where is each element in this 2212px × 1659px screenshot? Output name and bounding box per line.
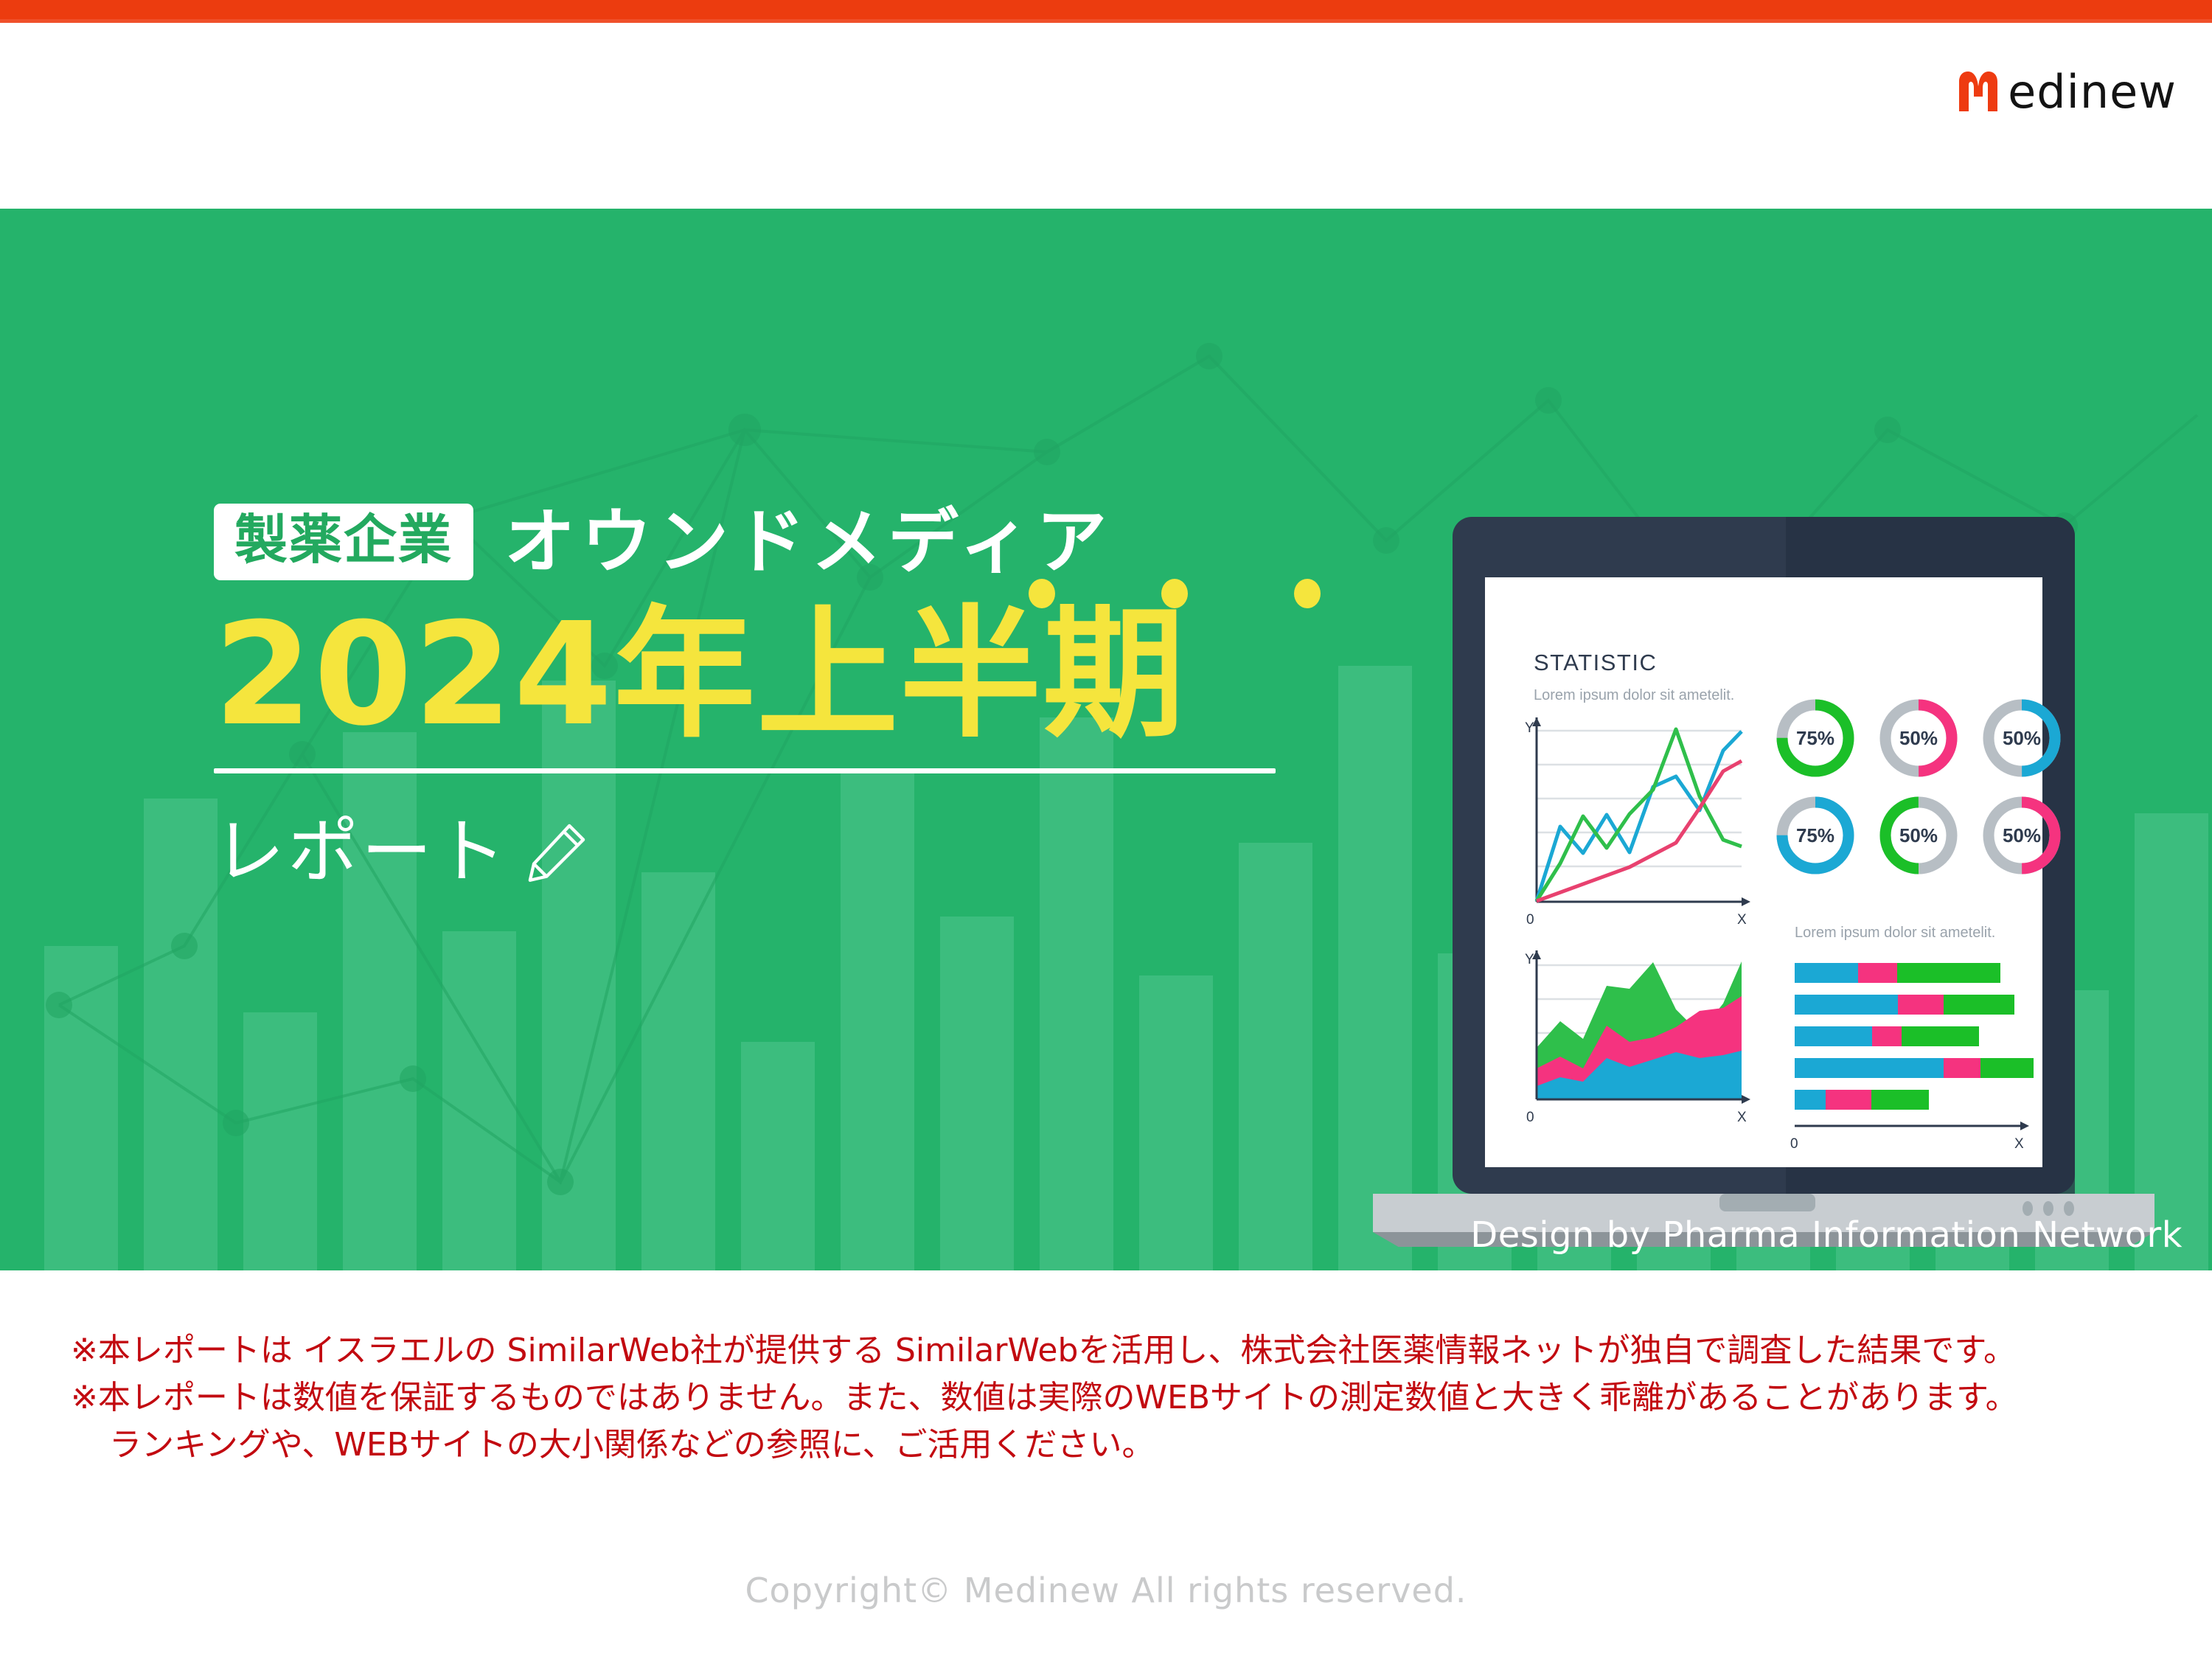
- disclaimer-line-3: ランキングや、WEBサイトの大小関係などの参照に、ご活用ください。: [71, 1422, 2150, 1469]
- donut-value: 50%: [2003, 727, 2041, 749]
- donut-value: 75%: [1796, 727, 1834, 749]
- donut-value: 75%: [1796, 824, 1834, 846]
- hero-year-row: 2024年上半期: [214, 601, 1394, 750]
- stacked-bar-row: [1795, 1026, 1979, 1046]
- line-chart-y-label: Y: [1525, 720, 1534, 736]
- hero-divider: [214, 768, 1276, 773]
- medinew-m-icon: [1953, 69, 2003, 116]
- disclaimer-block: ※本レポートは イスラエルの SimilarWeb社が提供する SimilarW…: [71, 1327, 2150, 1468]
- bars-origin-label: 0: [1790, 1136, 1798, 1152]
- stacked-bar-row: [1795, 963, 2000, 983]
- laptop-illustration: STATISTIC Lorem ipsum dolor sit ametelit…: [1373, 517, 2154, 1247]
- top-accent-bar: [0, 0, 2212, 19]
- hero-headline: オウンドメディア: [504, 507, 1113, 577]
- hero-title-block: 製薬企業 オウンドメディア 2024年上半期 レポート: [214, 504, 1394, 889]
- page-header: edinew: [0, 23, 2212, 209]
- emphasis-dots: [1029, 579, 1321, 608]
- emphasis-dot: [1294, 579, 1321, 608]
- hero-big-year: 2024年上半期: [214, 601, 1394, 750]
- emphasis-dot: [1029, 579, 1055, 608]
- disclaimer-line-1: ※本レポートは イスラエルの SimilarWeb社が提供する SimilarW…: [71, 1327, 2150, 1374]
- hero-title-row-primary: 製薬企業 オウンドメディア: [214, 504, 1394, 580]
- bars-x-label: X: [2014, 1136, 2024, 1152]
- hero-subtitle-row: レポート: [214, 815, 1394, 889]
- donut-value: 50%: [2003, 824, 2041, 846]
- line-chart-origin-label: 0: [1526, 912, 1534, 928]
- screen-subtitle: Lorem ipsum dolor sit ametelit.: [1534, 687, 1734, 703]
- disclaimer-line-2: ※本レポートは数値を保証するものではありません。また、数値は実際のWEBサイトの…: [71, 1374, 2150, 1422]
- area-chart-origin-label: 0: [1526, 1110, 1534, 1125]
- footer-copyright: Copyright© Medinew All rights reserved.: [0, 1571, 2212, 1610]
- area-chart-x-label: X: [1737, 1110, 1747, 1125]
- pencil-icon: [525, 821, 588, 884]
- line-chart-x-label: X: [1737, 912, 1747, 928]
- screen-title: STATISTIC: [1534, 650, 1657, 675]
- stacked-bar-row: [1795, 1058, 2034, 1078]
- emphasis-dot: [1161, 579, 1188, 608]
- area-chart-y-label: Y: [1525, 952, 1534, 967]
- logo-wordmark: edinew: [2008, 69, 2177, 115]
- hero-subtitle: レポート: [214, 815, 509, 889]
- stacked-bar-row: [1795, 995, 2014, 1015]
- donut-value: 50%: [1899, 727, 1938, 749]
- stacked-bar-row: [1795, 1090, 1929, 1110]
- donut-value: 50%: [1899, 824, 1938, 846]
- category-badge: 製薬企業: [214, 504, 473, 580]
- medinew-logo[interactable]: edinew: [1953, 69, 2177, 116]
- bars-caption: Lorem ipsum dolor sit ametelit.: [1795, 925, 1995, 941]
- design-credit: Design by Pharma Information Network: [1470, 1214, 2183, 1256]
- hero-banner: 製薬企業 オウンドメディア 2024年上半期 レポート: [0, 209, 2212, 1270]
